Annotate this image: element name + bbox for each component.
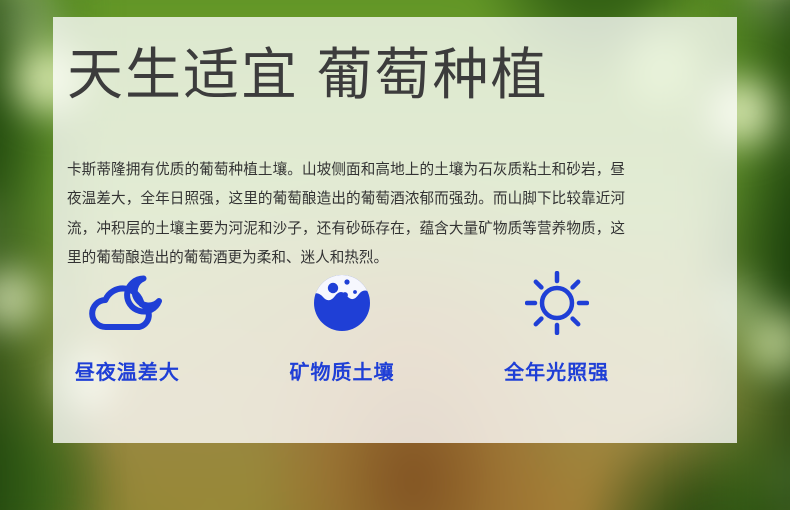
description-paragraph: 卡斯蒂隆拥有优质的葡萄种植土壤。山坡侧面和高地上的土壤为石灰质粘土和砂岩，昼夜温… [67, 156, 625, 274]
cloud-moon-icon [86, 272, 168, 334]
feature-label: 全年光照强 [504, 356, 609, 385]
page-title: 天生适宜 葡萄种植 [67, 42, 627, 108]
feature-item-temperature-range: 昼夜温差大 [20, 272, 235, 385]
feature-list: 昼夜温差大 [20, 272, 664, 385]
promo-banner: 天生适宜 葡萄种植 卡斯蒂隆拥有优质的葡萄种植土壤。山坡侧面和高地上的土壤为石灰… [0, 0, 790, 510]
sun-icon [525, 272, 589, 334]
mineral-soil-icon [311, 272, 373, 334]
feature-item-mineral-soil: 矿物质土壤 [235, 272, 450, 385]
feature-label: 昼夜温差大 [75, 356, 180, 385]
feature-label: 矿物质土壤 [290, 356, 395, 385]
feature-item-sunlight: 全年光照强 [449, 272, 664, 385]
